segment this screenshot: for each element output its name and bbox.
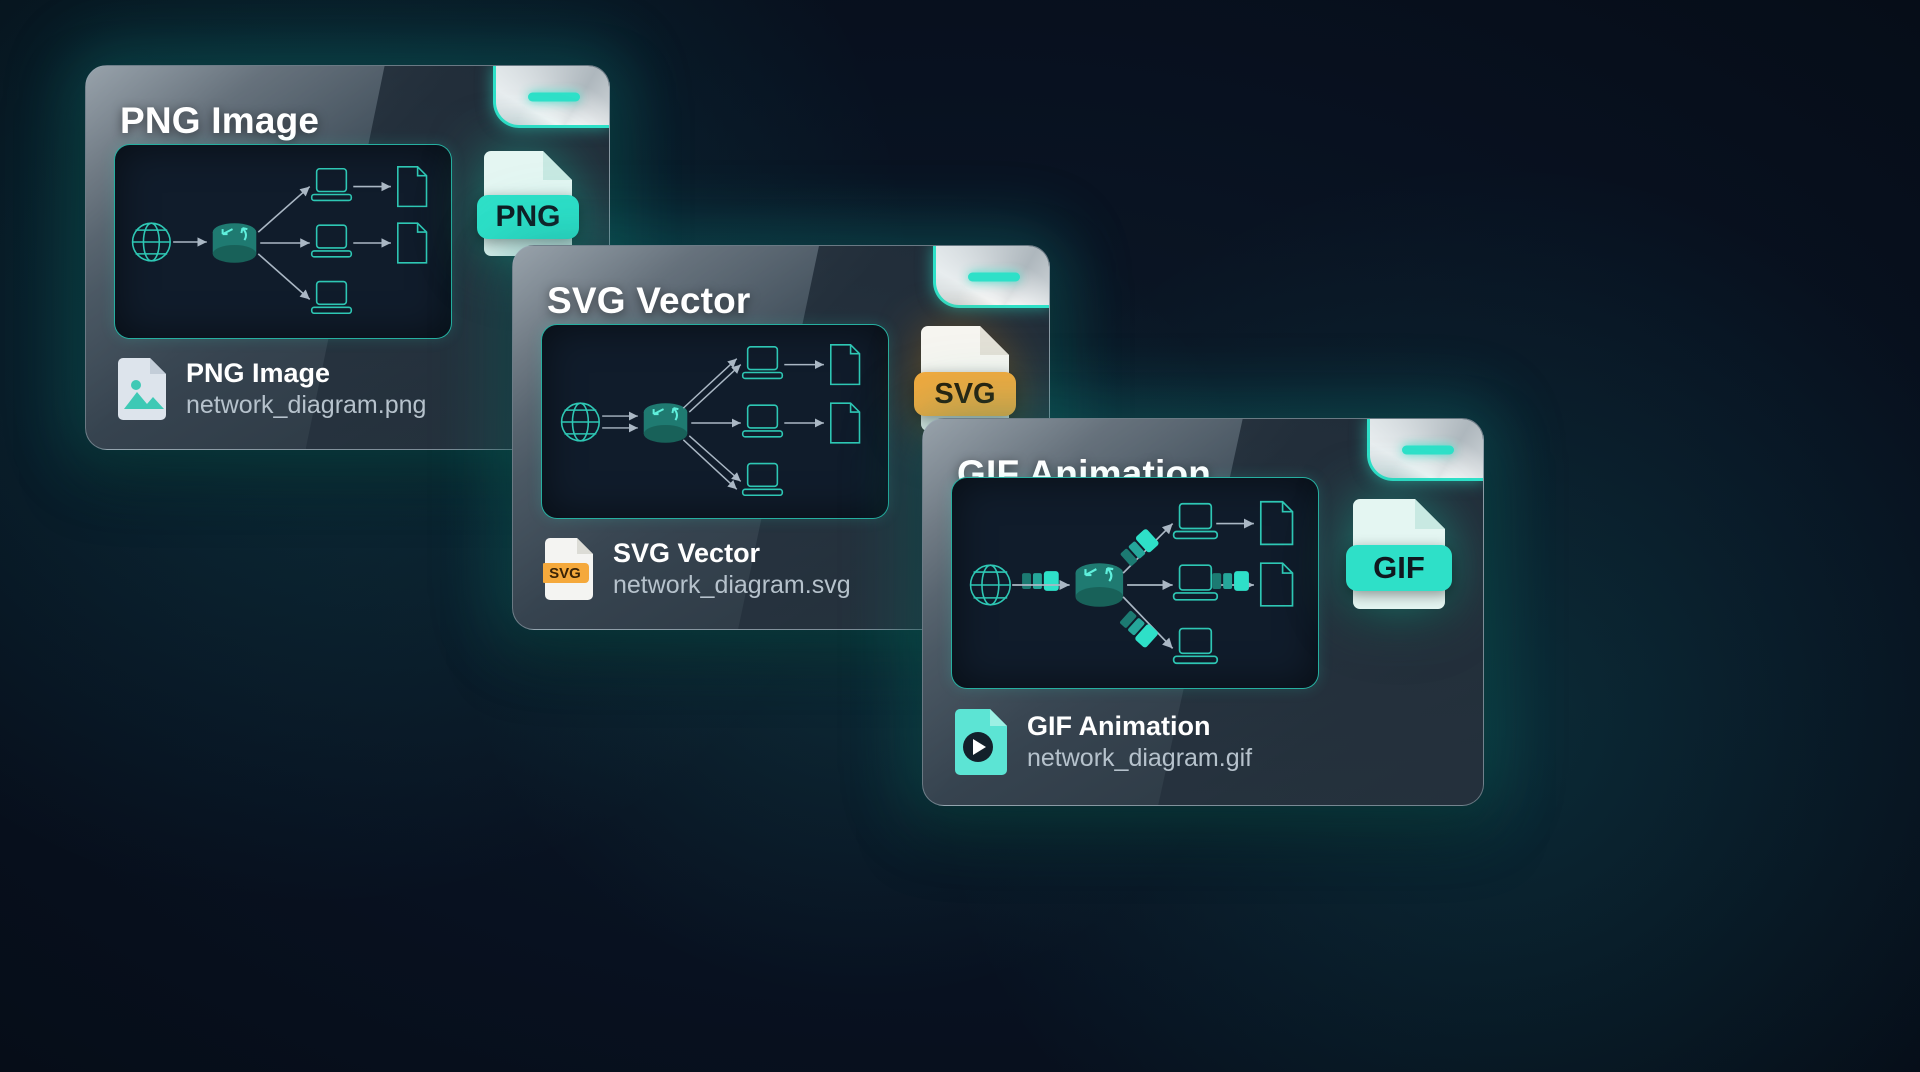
router-icon — [644, 403, 688, 443]
badge-chip: GIF — [1346, 545, 1453, 591]
corner-accent-icon — [493, 65, 610, 128]
png-format-badge: PNG — [484, 151, 572, 256]
file-info-svg: SVG SVG Vector network_diagram.svg — [543, 538, 851, 600]
corner-dash-icon — [968, 272, 1020, 281]
file-title: GIF Animation — [1027, 711, 1252, 743]
network-diagram-svg — [542, 325, 888, 518]
corner-accent-icon — [1367, 418, 1484, 481]
globe-icon — [562, 403, 600, 441]
svg-text:SVG: SVG — [549, 565, 581, 582]
file-name: network_diagram.gif — [1027, 743, 1252, 774]
packet-icons-upper — [1119, 528, 1160, 568]
network-diagram-gif — [952, 478, 1318, 688]
packet-icons — [1022, 571, 1059, 591]
corner-accent-icon — [933, 245, 1050, 308]
file-title: PNG Image — [186, 358, 426, 390]
corner-dash-icon — [528, 92, 580, 101]
svg-format-badge: SVG — [921, 326, 1009, 431]
card-title: SVG Vector — [547, 280, 751, 322]
file-info-png: PNG Image network_diagram.png — [116, 358, 426, 420]
badge-chip: PNG — [477, 195, 579, 239]
badge-chip: SVG — [914, 372, 1016, 416]
diagram-links — [173, 187, 391, 300]
file-title: SVG Vector — [613, 538, 851, 570]
document-icons — [1261, 502, 1293, 606]
packet-icons-right — [1212, 571, 1249, 591]
file-name: network_diagram.png — [186, 390, 426, 421]
globe-icon — [133, 223, 171, 261]
svg-vector-file-icon: SVG — [543, 538, 595, 600]
network-diagram-png — [115, 145, 451, 338]
file-info-gif: GIF Animation network_diagram.gif — [953, 709, 1252, 775]
gif-animation-file-icon — [953, 709, 1009, 775]
scene-root: PNG Image — [0, 0, 1920, 1072]
diagram-viewport-gif — [951, 477, 1319, 689]
png-image-file-icon — [116, 358, 168, 420]
card-title: PNG Image — [120, 100, 319, 142]
router-icon — [1076, 563, 1124, 607]
globe-icon — [971, 565, 1011, 605]
computer-icons — [312, 169, 352, 314]
badge-label: PNG — [496, 200, 561, 234]
packet-icons-lower — [1118, 609, 1159, 649]
router-icon — [213, 223, 257, 263]
gif-format-badge: GIF — [1353, 499, 1445, 609]
badge-label: SVG — [934, 378, 995, 411]
corner-dash-icon — [1402, 445, 1454, 454]
diagram-links — [602, 359, 824, 490]
format-card-gif[interactable]: GIF Animation — [922, 418, 1484, 806]
badge-label: GIF — [1373, 550, 1425, 586]
diagram-viewport-svg — [541, 324, 889, 519]
document-icons — [831, 345, 860, 443]
computer-icons — [743, 347, 783, 495]
computer-icons — [1174, 504, 1218, 663]
file-name: network_diagram.svg — [613, 570, 851, 601]
diagram-viewport-png — [114, 144, 452, 339]
document-icons — [398, 167, 427, 263]
